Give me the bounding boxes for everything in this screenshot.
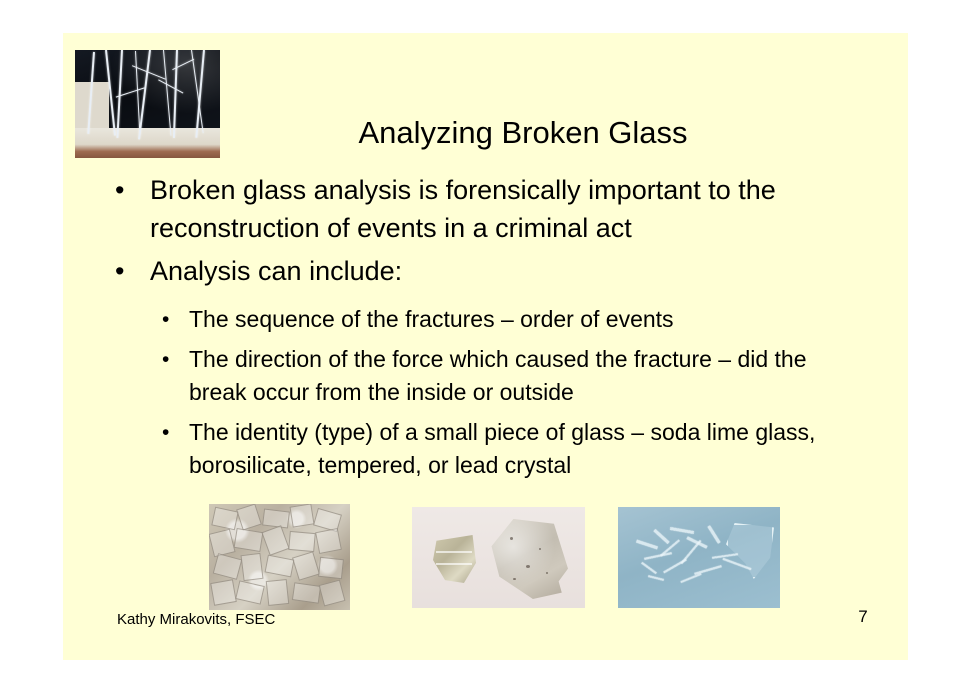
sub-bullet-text: The direction of the force which caused … <box>189 343 822 409</box>
bullet-item: • Analysis can include: <box>115 252 815 290</box>
glass-fragment <box>292 582 321 604</box>
sub-bullet-item: • The identity (type) of a small piece o… <box>162 416 822 482</box>
glass-fragment <box>288 531 316 552</box>
sub-bullet-item: • The sequence of the fractures – order … <box>162 303 822 336</box>
large-glass-fragment <box>490 519 568 599</box>
surface-speck <box>539 548 541 550</box>
window-sill <box>75 128 220 158</box>
bullet-text: Analysis can include: <box>150 252 815 290</box>
crushed-tempered-glass-photo <box>209 504 350 610</box>
large-sliver <box>726 523 774 579</box>
glass-fragment <box>261 525 289 556</box>
glass-fragment <box>236 504 262 531</box>
glass-sliver <box>680 573 701 583</box>
surface-speck <box>546 572 548 574</box>
bullet-marker: • <box>115 171 139 209</box>
glass-fragment <box>213 553 243 580</box>
fragment-ridge <box>436 563 472 565</box>
glass-fragment <box>211 507 238 531</box>
glass-fragment <box>210 579 237 606</box>
glass-slivers-blue-photo <box>618 507 780 608</box>
surface-speck <box>510 537 513 540</box>
sub-bullet-text: The sequence of the fractures – order of… <box>189 303 822 336</box>
glass-sliver <box>686 536 707 548</box>
surface-speck <box>526 565 530 568</box>
fragment-ridge <box>436 551 472 553</box>
glass-shards-photo <box>412 507 585 608</box>
glass-sliver <box>670 527 694 534</box>
small-glass-fragment <box>433 535 476 583</box>
glass-sliver <box>644 552 672 560</box>
bullet-text: Broken glass analysis is forensically im… <box>150 171 815 247</box>
glass-fragment <box>234 528 264 552</box>
glass-fragment <box>289 504 314 528</box>
glass-fragment <box>292 551 320 580</box>
slide-title: Analyzing Broken Glass <box>223 113 823 153</box>
glass-fragment <box>265 555 295 578</box>
bullet-marker: • <box>162 416 182 449</box>
glass-sliver <box>653 529 669 544</box>
glass-fragment <box>315 528 342 554</box>
bullet-marker: • <box>162 343 182 376</box>
footer-page-number: 7 <box>843 607 883 627</box>
sub-bullet-item: • The direction of the force which cause… <box>162 343 822 409</box>
bullet-item: • Broken glass analysis is forensically … <box>115 171 815 247</box>
glass-fragment <box>235 580 265 604</box>
glass-fragment <box>209 529 236 558</box>
glass-fragment <box>319 580 346 607</box>
glass-sliver <box>707 525 720 544</box>
presentation-slide: Analyzing Broken Glass • Broken glass an… <box>63 33 908 660</box>
footer-author: Kathy Mirakovits, FSEC <box>117 611 275 628</box>
sub-bullet-text: The identity (type) of a small piece of … <box>189 416 822 482</box>
glass-sliver <box>636 540 658 550</box>
glass-sliver <box>641 562 657 574</box>
glass-sliver <box>648 575 664 581</box>
glass-fragment <box>266 579 289 606</box>
cracked-window-photo <box>75 50 220 158</box>
bullet-marker: • <box>115 252 139 290</box>
bullet-marker: • <box>162 303 182 336</box>
glass-fragment <box>318 557 344 579</box>
glass-fragment <box>240 553 263 581</box>
surface-speck <box>513 578 516 580</box>
glass-fragment <box>262 508 290 528</box>
